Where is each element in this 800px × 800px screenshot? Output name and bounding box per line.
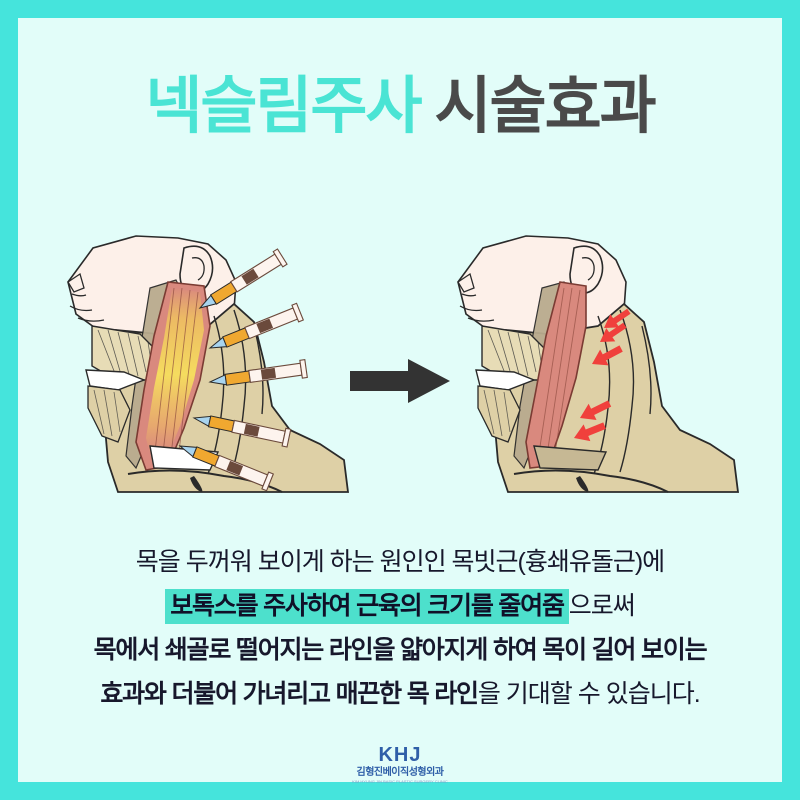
body-line-1: 목을 두꺼워 보이게 하는 원인인 목빗근(흉쇄유돌근)에 <box>18 540 782 584</box>
body-line-3: 목에서 쇄골로 떨어지는 라인을 얇아지게 하여 목이 길어 보이는 <box>18 628 782 672</box>
logo-clinic-name: 김형진베이직성형외과 <box>18 766 782 779</box>
illustration-row <box>18 230 782 520</box>
page-title: 넥슬림주사시술효과 <box>18 76 782 138</box>
body-text-block: 목을 두꺼워 보이게 하는 원인인 목빗근(흉쇄유돌근)에 보톡스를 주사하여 … <box>18 540 782 716</box>
poster-inner-panel: 넥슬림주사시술효과 <box>18 18 782 782</box>
right-arrow-icon <box>346 355 454 407</box>
body-line-1-text: 목을 두꺼워 보이게 하는 원인인 목빗근(흉쇄유돌근)에 <box>136 548 664 576</box>
logo-clinic-subtitle: KIM HYUNG JIN BASIC PLASTIC SURGERY CLIN… <box>18 779 782 785</box>
body-line-2-highlight: 보톡스를 주사하여 근육의 크기를 줄여줌 <box>165 589 569 624</box>
transition-arrow-wrap <box>346 355 454 407</box>
title-accent-text: 넥슬림주사 <box>145 76 420 138</box>
body-line-2: 보톡스를 주사하여 근육의 크기를 줄여줌으로써 <box>18 584 782 628</box>
body-line-4-bold: 효과와 더불어 가녀리고 매끈한 목 라인 <box>100 680 478 708</box>
neck-before-illustration <box>58 230 358 520</box>
body-line-4: 효과와 더불어 가녀리고 매끈한 목 라인을 기대할 수 있습니다. <box>18 672 782 716</box>
neck-after-illustration <box>448 230 748 520</box>
poster-root: 넥슬림주사시술효과 <box>0 0 800 800</box>
body-line-3-text: 목에서 쇄골로 떨어지는 라인을 얇아지게 하여 목이 길어 보이는 <box>94 636 707 664</box>
logo-mark-text: KHJ <box>18 744 782 766</box>
title-main-text: 시술효과 <box>435 76 655 138</box>
clinic-logo: KHJ 김형진베이직성형외과 KIM HYUNG JIN BASIC PLAST… <box>18 744 782 785</box>
body-line-2-tail: 으로써 <box>569 592 635 620</box>
body-line-4-tail: 을 기대할 수 있습니다. <box>478 680 700 708</box>
